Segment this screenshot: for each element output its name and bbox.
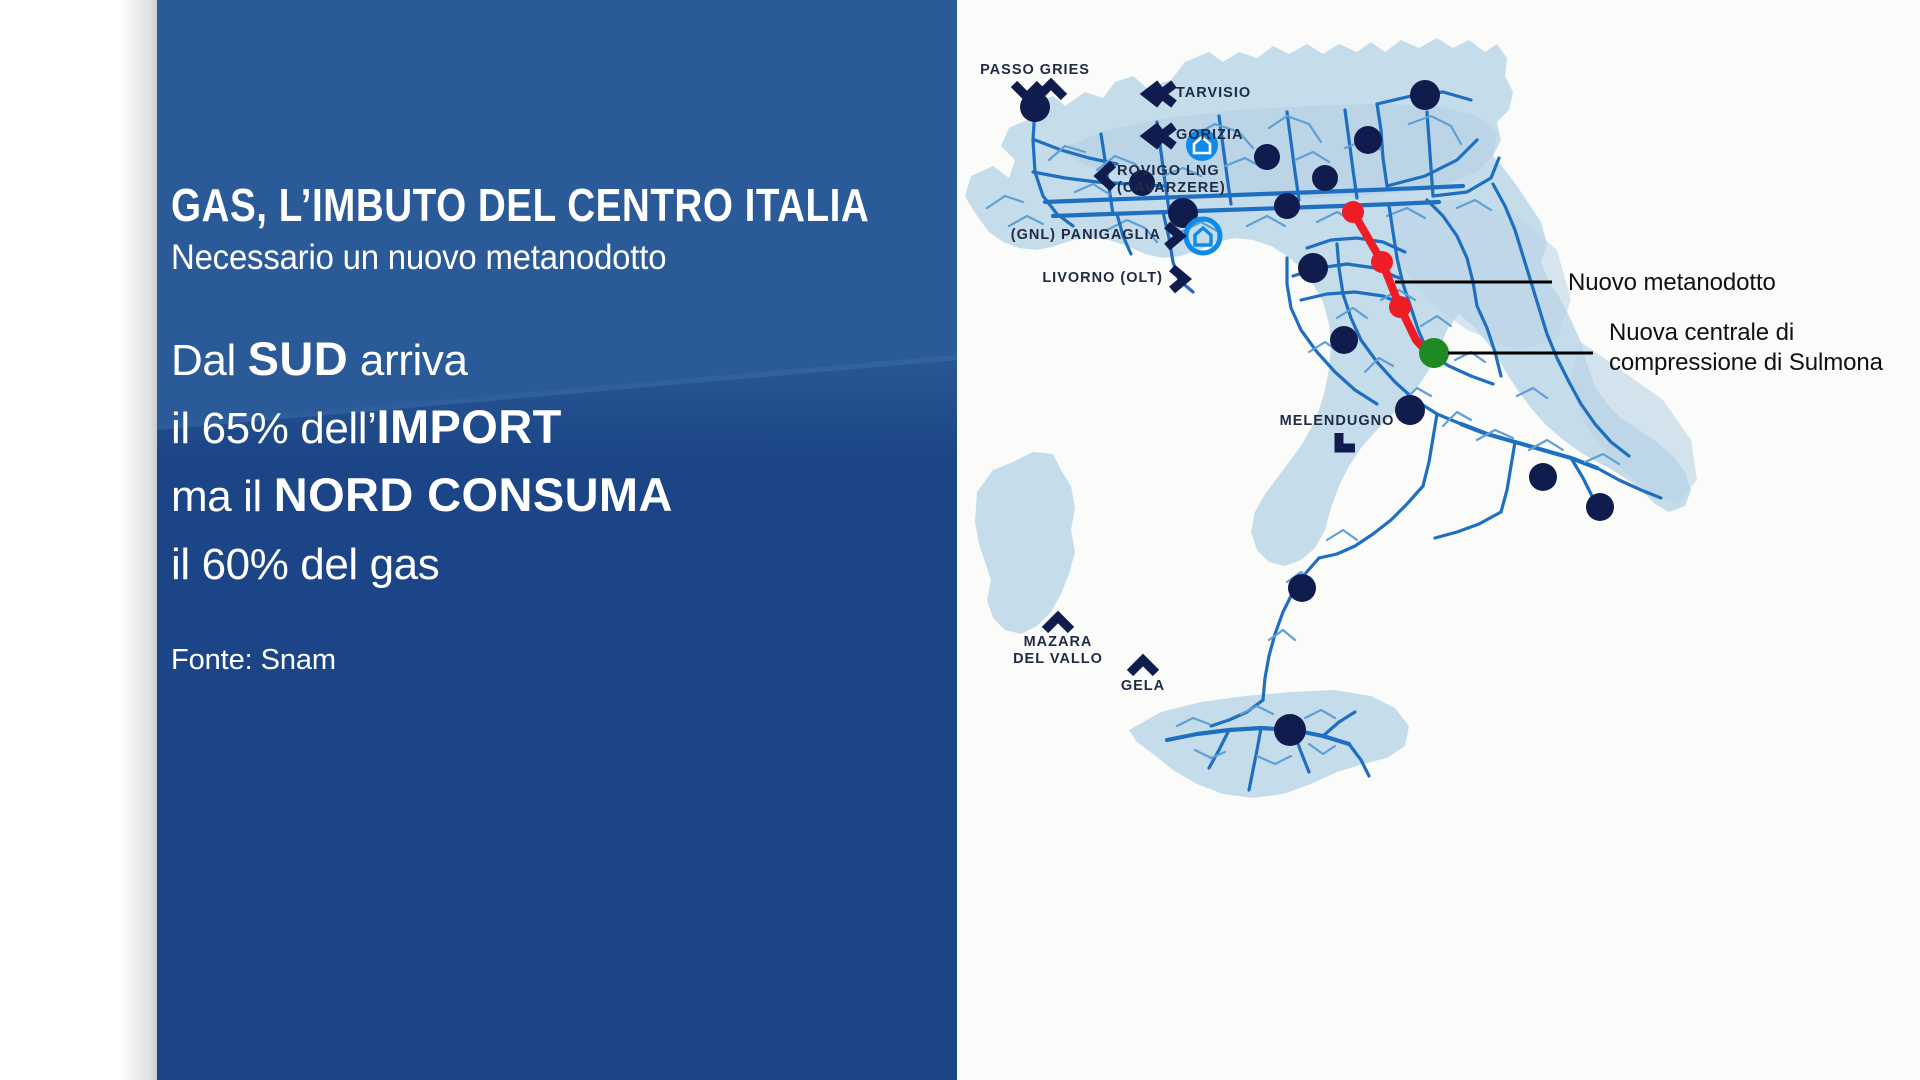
network-branch [1327,530,1357,540]
network-line [1319,534,1373,558]
panel-shadow [120,0,162,1080]
stat-text-emphasis: SUD [248,332,348,385]
page-subtitle: Necessario un nuovo metanodotto [171,238,666,278]
network-node [1254,144,1280,170]
stat-line: Dal SUD arriva [171,326,673,394]
network-node [1410,80,1440,110]
entry-label-mazara-line1: MAZARA [968,634,1148,651]
source-credit: Fonte: Snam [171,644,336,677]
entry-label-gorizia: GORIZIA [1176,127,1243,144]
entry-label-rovigo-lng-line1: ROVIGO LNG [1117,163,1226,180]
stat-text-pre: ma il [171,472,274,521]
entry-label-tarvisio: TARVISIO [1176,85,1251,102]
entry-label-melendugno: MELENDUGNO [1247,413,1427,430]
double-chevron-down-up-icon-passo-gries [1014,84,1064,97]
chevron-up-icon-mazara [1045,617,1071,630]
network-node [1288,574,1316,602]
sardinia-shape [975,452,1075,634]
legend-label-compressor-line1: Nuova centrale di [1609,318,1883,348]
entry-label-passo-gries: PASSO GRIES [935,62,1135,79]
network-node [1354,126,1382,154]
infographic-root: GAS, L’IMBUTO DEL CENTRO ITALIA Necessar… [0,0,1920,1080]
network-node [1330,326,1358,354]
network-line [1435,512,1501,538]
network-node [1586,493,1614,521]
legend-label-compressor-group: Nuova centrale di compressione di Sulmon… [1609,318,1883,378]
network-branch [1269,630,1295,640]
new-pipeline-node [1342,201,1364,223]
new-pipeline-node [1389,296,1411,318]
page-title: GAS, L’IMBUTO DEL CENTRO ITALIA [171,178,869,232]
stat-line: il 65% dell’IMPORT [171,394,673,462]
entry-label-mazara-group: MAZARA DEL VALLO [968,634,1148,668]
stat-text-pre: il 65% dell’ [171,404,377,453]
statistics-block: Dal SUD arriva il 65% dell’IMPORT ma il … [171,326,673,598]
entry-label-rovigo-lng-line2: (CAVARZERE) [1117,180,1226,197]
network-node [1312,165,1338,191]
network-line [1373,486,1423,534]
entry-label-gela: GELA [1053,678,1233,695]
italy-gas-network-map [957,0,1920,1080]
stat-line: il 60% del gas [171,530,673,598]
compressor-station-sulmona-marker [1419,338,1449,368]
legend-label-compressor-line2: compressione di Sulmona [1609,348,1883,378]
entry-label-rovigo-lng-group: ROVIGO LNG (CAVARZERE) [1117,163,1226,197]
stat-text-post: arriva [348,336,467,385]
new-pipeline-node [1371,251,1393,273]
legend-label-new-pipeline: Nuovo metanodotto [1568,268,1776,298]
stat-text-emphasis: IMPORT [377,400,562,453]
stat-text-pre: Dal [171,336,248,385]
network-node [1274,714,1306,746]
network-node [1274,193,1300,219]
stat-text-emphasis: NORD CONSUMA [274,468,673,521]
chevron-right-icon-livorno [1172,268,1185,290]
stat-text-pre: il 60% del gas [171,540,439,589]
stat-line: ma il NORD CONSUMA [171,462,673,530]
entry-label-mazara-line2: DEL VALLO [968,651,1148,668]
sicily-shape [1129,690,1409,798]
text-panel: GAS, L’IMBUTO DEL CENTRO ITALIA Necessar… [157,0,957,1080]
network-node [1298,253,1328,283]
map-area: PASSO GRIES TARVISIO GORIZIA ROVIGO LNG … [957,0,1920,1080]
network-line [1501,442,1515,512]
network-node [1529,463,1557,491]
